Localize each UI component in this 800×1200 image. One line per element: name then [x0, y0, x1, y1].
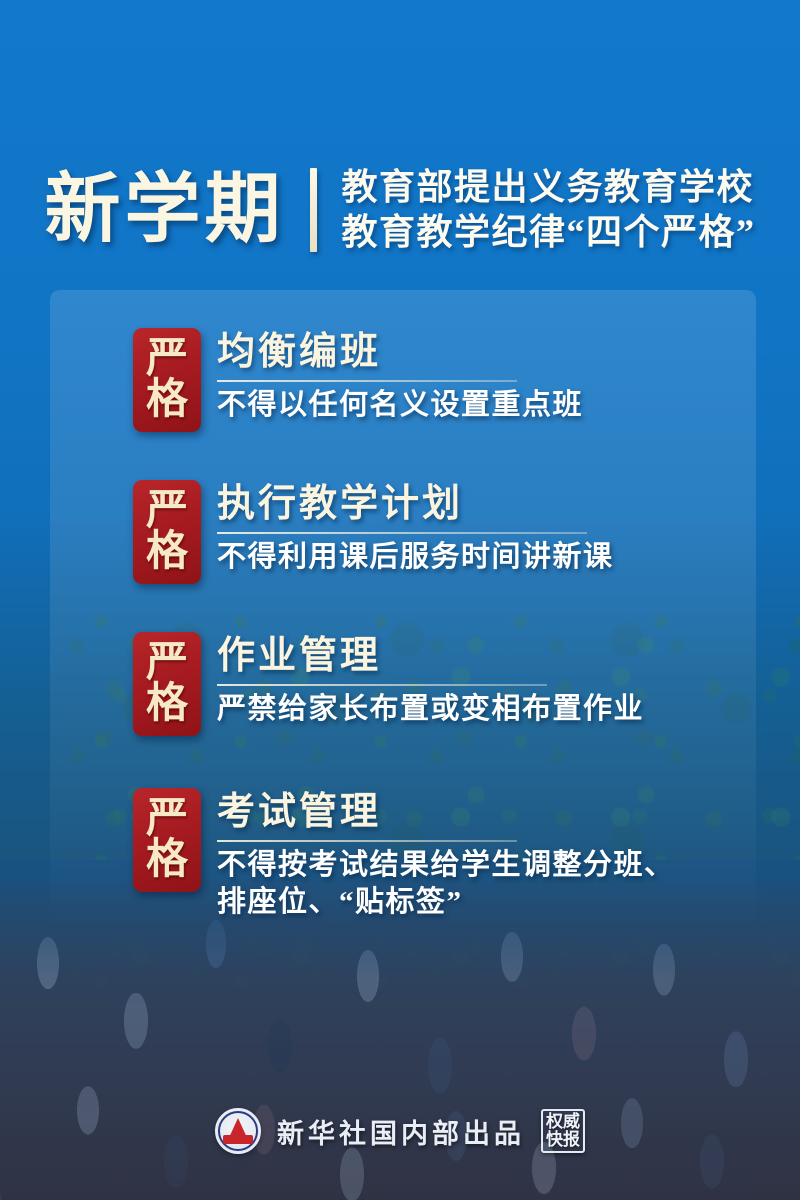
stamp-line-1: 权威	[546, 1113, 580, 1131]
severity-badge: 严 格	[133, 480, 201, 584]
title-underline	[217, 840, 517, 842]
xinhua-logo-icon	[215, 1108, 261, 1154]
header-divider	[310, 168, 317, 252]
rule-title: 考试管理	[217, 792, 675, 834]
rule-description-line-1: 不得按考试结果给学生调整分班、	[217, 849, 675, 881]
header-subtitle: 教育部提出义务教育学校 教育教学纪律“四个严格”	[341, 168, 755, 252]
rule-text-block: 执行教学计划 不得利用课后服务时间讲新课	[203, 480, 614, 576]
rule-text-block: 考试管理 不得按考试结果给学生调整分班、 排座位、“贴标签”	[203, 788, 675, 922]
stamp-line-2: 快报	[546, 1131, 580, 1149]
rule-title: 作业管理	[217, 636, 644, 678]
xinhua-logo-ring	[218, 1111, 258, 1151]
badge-char-bottom: 格	[146, 532, 188, 573]
rule-title: 均衡编班	[217, 332, 583, 374]
rule-description-line-1: 不得以任何名义设置重点班	[217, 389, 583, 421]
badge-char-top: 严	[146, 799, 188, 840]
badge-char-top: 严	[146, 339, 188, 380]
rule-item: 严 格 执行教学计划 不得利用课后服务时间讲新课	[133, 480, 614, 584]
rule-description: 严禁给家长布置或变相布置作业	[217, 691, 644, 729]
severity-badge: 严 格	[133, 788, 201, 892]
rule-item: 严 格 考试管理 不得按考试结果给学生调整分班、 排座位、“贴标签”	[133, 788, 675, 922]
severity-badge: 严 格	[133, 632, 201, 736]
title-underline	[217, 684, 547, 686]
poster-canvas: 新学期 教育部提出义务教育学校 教育教学纪律“四个严格” 严 格 均衡编班 不得…	[0, 0, 800, 1200]
page-title: 新学期	[44, 172, 310, 248]
poster-header: 新学期 教育部提出义务教育学校 教育教学纪律“四个严格”	[0, 150, 800, 270]
rule-item: 严 格 均衡编班 不得以任何名义设置重点班	[133, 328, 583, 432]
badge-char-top: 严	[146, 491, 188, 532]
rule-description-line-1: 不得利用课后服务时间讲新课	[217, 541, 614, 573]
severity-badge: 严 格	[133, 328, 201, 432]
rule-description-line-2: 排座位、“贴标签”	[217, 884, 675, 922]
rule-description: 不得利用课后服务时间讲新课	[217, 539, 614, 577]
badge-char-top: 严	[146, 643, 188, 684]
badge-char-bottom: 格	[146, 840, 188, 881]
rule-text-block: 均衡编班 不得以任何名义设置重点班	[203, 328, 583, 424]
rule-text-block: 作业管理 严禁给家长布置或变相布置作业	[203, 632, 644, 728]
rule-description: 不得按考试结果给学生调整分班、 排座位、“贴标签”	[217, 847, 675, 922]
rule-title: 执行教学计划	[217, 484, 614, 526]
title-underline	[217, 532, 587, 534]
badge-char-bottom: 格	[146, 684, 188, 725]
rule-item: 严 格 作业管理 严禁给家长布置或变相布置作业	[133, 632, 644, 736]
authority-stamp: 权威 快报	[541, 1109, 585, 1153]
rule-description-line-1: 严禁给家长布置或变相布置作业	[217, 693, 644, 725]
badge-char-bottom: 格	[146, 380, 188, 421]
rule-description: 不得以任何名义设置重点班	[217, 387, 583, 425]
poster-footer: 新华社国内部出品 权威 快报	[0, 1100, 800, 1162]
title-underline	[217, 380, 517, 382]
header-subtitle-line-1: 教育部提出义务教育学校	[341, 168, 755, 207]
footer-credit: 新华社国内部出品	[277, 1112, 525, 1151]
header-subtitle-line-2: 教育教学纪律“四个严格”	[341, 213, 755, 252]
